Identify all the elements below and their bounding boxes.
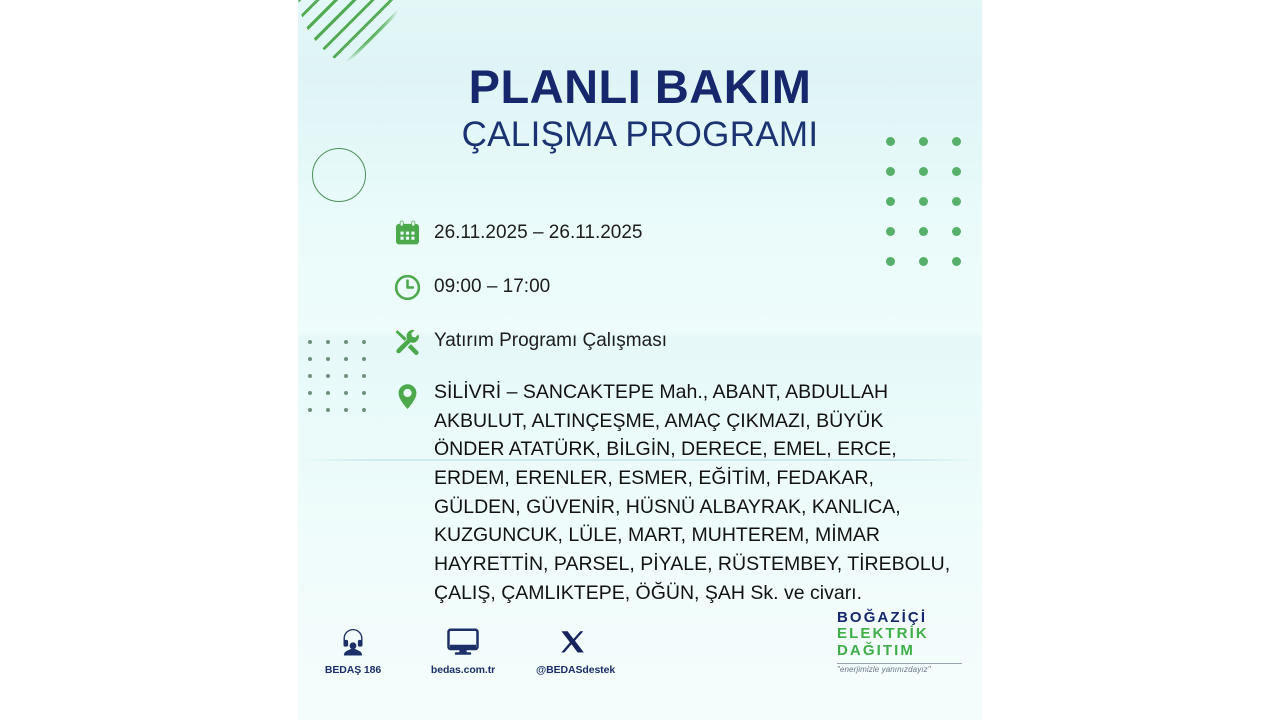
monitor-icon: [426, 623, 500, 657]
logo-divider: [837, 663, 962, 664]
info-row-time: 09:00 – 17:00: [390, 270, 970, 304]
logo-line-bogazici: BOĞAZİÇİ: [837, 610, 962, 627]
screenshot-root: PLANLI BAKIM ÇALIŞMA PROGRAMI: [0, 0, 1280, 720]
clock-icon: [390, 270, 424, 304]
logo-line-elektrik: ELEKTRİK: [837, 626, 962, 643]
info-row-date: 26.11.2025 – 26.11.2025: [390, 216, 970, 250]
contact-channels: BEDAŞ 186 bedas.com.tr: [316, 623, 610, 676]
calendar-icon: [390, 216, 424, 250]
time-range-value: 09:00 – 17:00: [434, 270, 550, 302]
info-row-work-type: Yatırım Programı Çalışması: [390, 324, 970, 358]
date-range-value: 26.11.2025 – 26.11.2025: [434, 216, 643, 248]
map-pin-icon: [390, 378, 424, 412]
contact-x-account[interactable]: @BEDASdestek: [536, 623, 610, 676]
contact-website-label: bedas.com.tr: [426, 664, 500, 676]
affected-streets-text: SİLİVRİ – SANCAKTEPE Mah., ABANT, ABDULL…: [434, 378, 950, 607]
poster-footer: BEDAŞ 186 bedas.com.tr: [298, 606, 982, 676]
page-subtitle: ÇALIŞMA PROGRAMI: [298, 116, 982, 155]
info-row-location: SİLİVRİ – SANCAKTEPE Mah., ABANT, ABDULL…: [390, 378, 970, 607]
work-type-value: Yatırım Programı Çalışması: [434, 324, 667, 356]
headset-support-icon: [316, 623, 390, 657]
logo-tagline: "enerjimizle yanınızdayız": [837, 665, 962, 674]
contact-call-center-label: BEDAŞ 186: [316, 664, 390, 676]
contact-x-label: @BEDASdestek: [536, 664, 610, 676]
circle-outline-decoration: [312, 148, 366, 202]
x-twitter-icon: [536, 623, 610, 657]
dot-grid-left-decoration: [308, 340, 380, 425]
maintenance-notice-card: PLANLI BAKIM ÇALIŞMA PROGRAMI: [298, 0, 982, 720]
bedas-logo: BOĞAZİÇİ ELEKTRİK DAĞITIM "enerjimizle y…: [837, 610, 962, 674]
contact-website[interactable]: bedas.com.tr: [426, 623, 500, 676]
page-title: PLANLI BAKIM: [298, 63, 982, 112]
contact-call-center[interactable]: BEDAŞ 186: [316, 623, 390, 676]
poster-header: PLANLI BAKIM ÇALIŞMA PROGRAMI: [298, 63, 982, 154]
info-list: 26.11.2025 – 26.11.2025 09:00 – 17:00: [390, 216, 970, 607]
tools-icon: [390, 324, 424, 358]
logo-line-dagitim: DAĞITIM: [837, 643, 962, 660]
